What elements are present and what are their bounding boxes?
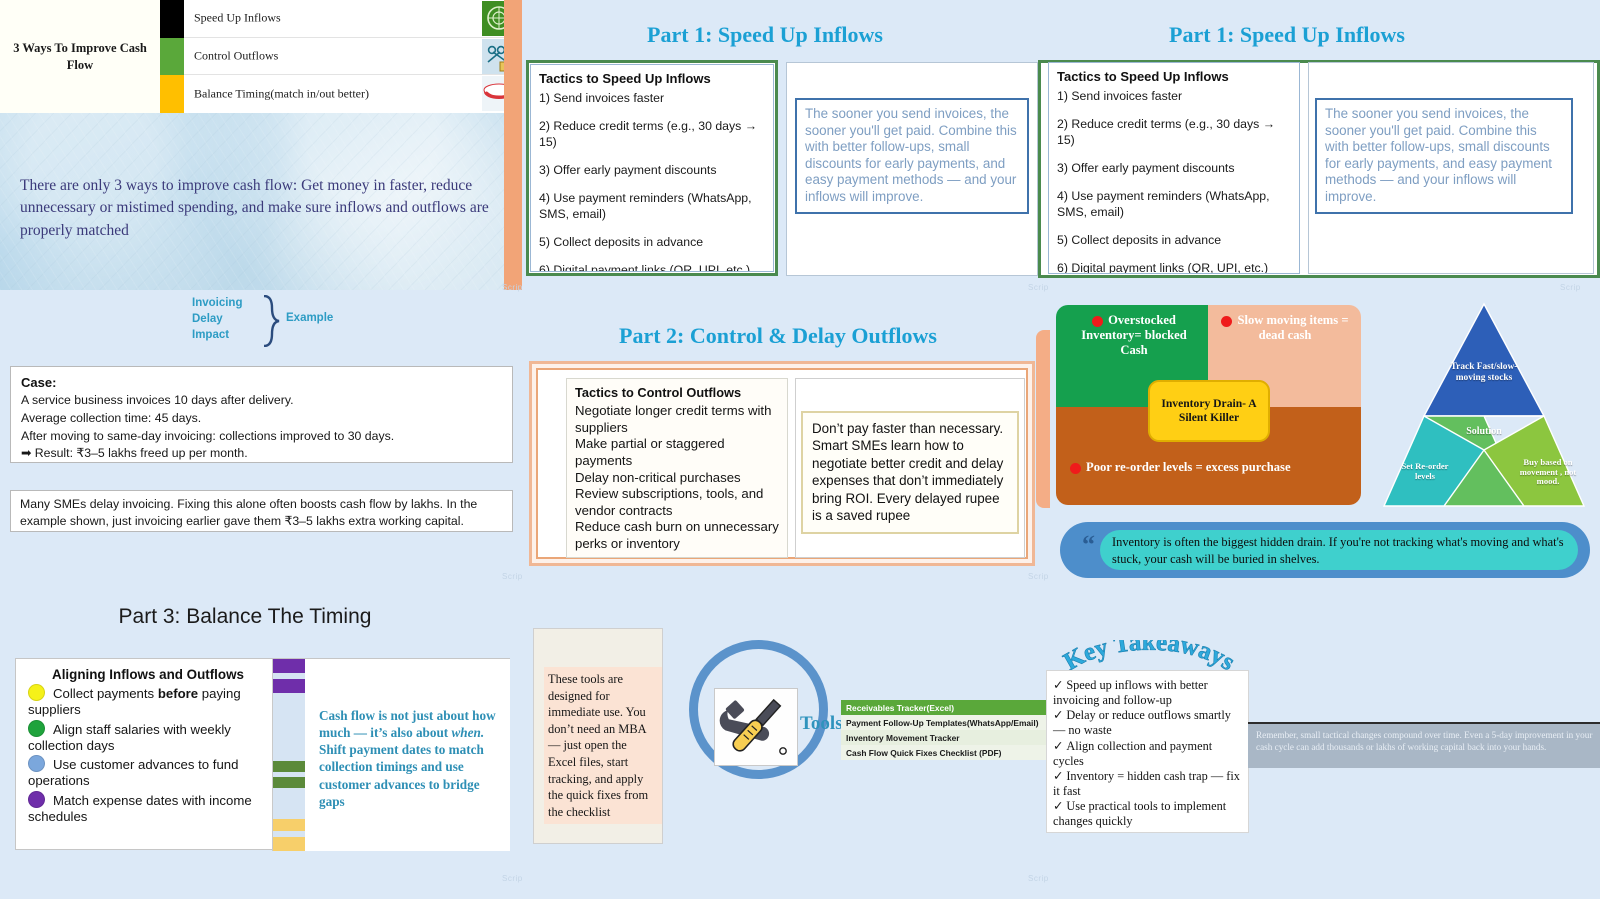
quote-mark-icon: “ — [1082, 530, 1095, 560]
check-icon: ✓ — [1053, 739, 1063, 753]
wrench-screwdriver-icon — [714, 688, 798, 766]
check-icon: ✓ — [1053, 799, 1063, 813]
bullet-dot-icon — [1221, 316, 1232, 327]
tactic-item: 4) Use payment reminders (WhatsApp, SMS,… — [539, 191, 765, 223]
three-ways-table: 3 Ways To Improve Cash Flow Speed Up Inf… — [0, 0, 516, 113]
inventory-text: Slow moving items = dead cash — [1237, 313, 1348, 342]
case-heading: Case: — [21, 375, 502, 390]
takeaway-item: ✓Align collection and payment cycles — [1053, 739, 1242, 769]
part3-box: Aligning Inflows and Outflows Collect pa… — [15, 658, 510, 850]
part1-title-right: Part 1: Speed Up Inflows — [1046, 22, 1528, 48]
align-item: Match expense dates with income schedule… — [28, 791, 268, 825]
takeaway-item: ✓Speed up inflows with better invoicing … — [1053, 678, 1242, 708]
part1-title-left: Part 1: Speed Up Inflows — [524, 22, 1006, 48]
pyramid-top-label: Track Fast/slow-moving stocks — [1444, 362, 1524, 383]
tactic-item: Reduce cash burn on unnecessary perks or… — [575, 519, 779, 552]
watermark: Scrip — [1028, 283, 1049, 292]
part2-quote: Don’t pay faster than necessary. Smart S… — [801, 411, 1019, 534]
tactic-item: 3) Offer early payment discounts — [539, 163, 765, 179]
takeaway-text: Speed up inflows with better invoicing a… — [1053, 678, 1208, 707]
pyramid-right-label: Buy based on movement , not mood. — [1516, 458, 1580, 487]
part3-title: Part 3: Balance The Timing — [15, 605, 475, 629]
bullet-blue-icon — [28, 755, 45, 772]
row-color-chip — [160, 0, 184, 38]
part1-tactics-box-left: Tactics to Speed Up Inflows 1) Send invo… — [530, 64, 774, 272]
tactic-item: 6) Digital payment links (QR, UPI, etc.) — [1057, 261, 1291, 274]
table-row: Speed Up Inflows — [160, 0, 516, 38]
watermark: Scrip — [502, 874, 523, 883]
inventory-matrix: Overstocked Inventory= blocked Cash Slow… — [1056, 305, 1361, 505]
tactic-item: 5) Collect deposits in advance — [539, 235, 765, 251]
tool-item-receivables-tracker[interactable]: Receivables Tracker(Excel) — [841, 700, 1051, 715]
align-item: Align staff salaries with weekly collect… — [28, 720, 268, 754]
check-icon: ✓ — [1053, 708, 1063, 722]
tactic-item: Delay non-critical purchases — [575, 470, 779, 487]
pyramid-middle-label: Solution — [1444, 426, 1524, 437]
takeaway-text: Delay or reduce outflows smartly — no wa… — [1053, 708, 1231, 737]
strip-segment-purple — [273, 679, 306, 693]
inventory-quote-text: Inventory is often the biggest hidden dr… — [1112, 534, 1572, 568]
tactic-item: Negotiate longer credit terms with suppl… — [575, 403, 779, 436]
part3-color-strip — [272, 659, 307, 851]
tactic-item: Review subscriptions, tools, and vendor … — [575, 486, 779, 519]
tools-note-text: These tools are designed for immediate u… — [544, 667, 662, 824]
align-item: Use customer advances to fund operations — [28, 755, 268, 789]
tactics-heading: Tactics to Speed Up Inflows — [1057, 69, 1291, 84]
part1-tactics-frame-left: Tactics to Speed Up Inflows 1) Send invo… — [526, 60, 778, 276]
part1-quote-wrap-left: The sooner you send invoices, the sooner… — [786, 62, 1038, 276]
row-label: Balance Timing(match in/out better) — [194, 86, 369, 101]
part1-quote-right: The sooner you send invoices, the sooner… — [1315, 98, 1573, 214]
case-line: ➡ Result: ₹3–5 lakhs freed up per month. — [21, 445, 502, 463]
tactic-item: 1) Send invoices faster — [539, 91, 765, 107]
part2-frame: Tactics to Control Outflows Negotiate lo… — [529, 361, 1035, 566]
takeaway-item: ✓Inventory = hidden cash trap — fix it f… — [1053, 769, 1242, 799]
part3-left-col: Aligning Inflows and Outflows Collect pa… — [28, 667, 268, 825]
inventory-text: Poor re-order levels = excess purchase — [1086, 460, 1291, 474]
bracket-item: Invoicing — [192, 297, 242, 309]
table-row: Balance Timing(match in/out better) — [160, 75, 516, 113]
tactic-item: 1) Send invoices faster — [1057, 89, 1291, 105]
table-row: Control Outflows — [160, 38, 516, 76]
row-label: Control Outflows — [194, 48, 278, 63]
takeaway-text: Align collection and payment cycles — [1053, 739, 1212, 768]
intro-slide: 3 Ways To Improve Cash Flow Speed Up Inf… — [0, 0, 516, 290]
strip-segment-green — [273, 777, 306, 788]
part2-inner-frame: Tactics to Control Outflows Negotiate lo… — [536, 368, 1028, 559]
strip-segment-green — [273, 761, 306, 772]
hero-caption: There are only 3 ways to improve cash fl… — [20, 175, 498, 242]
quote-part-2: Shift payment dates to match collection … — [319, 742, 484, 808]
tools-note-box: These tools are designed for immediate u… — [533, 628, 663, 844]
takeaway-text: Inventory = hidden cash trap — fix it fa… — [1053, 769, 1240, 798]
bullet-purple-icon — [28, 791, 45, 808]
strip-segment-purple — [273, 659, 306, 673]
item-text: Use customer advances to fund operations — [28, 757, 238, 788]
check-icon: ✓ — [1053, 678, 1063, 692]
pyramid-left-label: Set Re-order levels — [1394, 462, 1456, 481]
inventory-label-reorder: Poor re-order levels = excess purchase — [1070, 460, 1355, 475]
item-text: Match expense dates with income schedule… — [28, 793, 252, 824]
remember-banner: Remember, small tactical changes compoun… — [1248, 724, 1600, 768]
part1-quote-wrap-right: The sooner you send invoices, the sooner… — [1308, 62, 1594, 274]
orange-accent-strip-2 — [1036, 330, 1050, 508]
tactic-item: 5) Collect deposits in advance — [1057, 233, 1291, 249]
tactic-item: 4) Use payment reminders (WhatsApp, SMS,… — [1057, 189, 1291, 221]
part2-tactics-box: Tactics to Control Outflows Negotiate lo… — [566, 378, 788, 558]
table-title: 3 Ways To Improve Cash Flow — [0, 0, 160, 113]
takeaway-item: ✓Use practical tools to implement change… — [1053, 799, 1242, 829]
inventory-label-slowmoving: Slow moving items = dead cash — [1216, 313, 1354, 343]
tactic-item: 2) Reduce credit terms (e.g., 30 days → … — [1057, 117, 1291, 149]
row-color-chip — [160, 75, 184, 113]
takeaway-item: ✓Delay or reduce outflows smartly — no w… — [1053, 708, 1242, 738]
tool-item-payment-templates[interactable]: Payment Follow-Up Templates(WhatsApp/Ema… — [841, 715, 1051, 730]
bullet-dot-icon — [1092, 316, 1103, 327]
case-line: A service business invoices 10 days afte… — [21, 392, 502, 410]
row-label: Speed Up Inflows — [194, 11, 281, 26]
inventory-solution-pyramid: Track Fast/slow-moving stocks Solution S… — [1378, 300, 1590, 510]
bracket-item: Delay — [192, 313, 223, 325]
takeaway-text: Use practical tools to implement changes… — [1053, 799, 1226, 828]
case-note: Many SMEs delay invoicing. Fixing this a… — [20, 496, 503, 529]
watermark: Scrip — [1028, 874, 1049, 883]
strip-segment-yellow — [273, 819, 306, 831]
align-heading: Aligning Inflows and Outflows — [28, 667, 268, 682]
inventory-quote-pill: “ Inventory is often the biggest hidden … — [1060, 522, 1590, 578]
part3-quote: Cash flow is not just about how much — i… — [319, 707, 499, 810]
curly-brace-icon — [260, 295, 282, 347]
align-item: Collect payments before paying suppliers — [28, 684, 268, 718]
tools-label: Tools — [800, 713, 843, 735]
part1-quote-left: The sooner you send invoices, the sooner… — [795, 98, 1029, 214]
bracket-label: Example — [286, 312, 333, 324]
inventory-center-label: Inventory Drain- A Silent Killer — [1148, 380, 1270, 442]
case-line: Average collection time: 45 days. — [21, 410, 502, 428]
tactics-heading: Tactics to Control Outflows — [575, 385, 779, 400]
hero-image: There are only 3 ways to improve cash fl… — [0, 113, 516, 290]
case-box: Case: A service business invoices 10 day… — [10, 366, 513, 463]
bullet-yellow-icon — [28, 684, 45, 701]
row-color-chip — [160, 38, 184, 76]
part3-right-col: Cash flow is not just about how much — i… — [305, 659, 510, 851]
bullet-dot-icon — [1070, 463, 1081, 474]
inventory-label-overstocked: Overstocked Inventory= blocked Cash — [1068, 313, 1200, 358]
tactic-item: 2) Reduce credit terms (e.g., 30 days → … — [539, 119, 765, 151]
tool-item-quick-fixes-checklist[interactable]: Cash Flow Quick Fixes Checklist (PDF) — [841, 745, 1051, 760]
watermark: Scrip — [1028, 572, 1049, 581]
check-icon: ✓ — [1053, 769, 1063, 783]
tactic-item: Make partial or staggered payments — [575, 436, 779, 469]
item-text: Collect payments — [53, 686, 158, 701]
tactics-heading: Tactics to Speed Up Inflows — [539, 71, 765, 86]
part2-quote-wrap: Don’t pay faster than necessary. Smart S… — [795, 378, 1025, 558]
case-note-box: Many SMEs delay invoicing. Fixing this a… — [10, 490, 513, 532]
part1-tactics-box-right: Tactics to Speed Up Inflows 1) Send invo… — [1048, 62, 1300, 274]
watermark: Scrip — [1560, 283, 1581, 292]
case-line: After moving to same-day invoicing: coll… — [21, 428, 502, 446]
tactic-item: 6) Digital payment links (QR, UPI, etc.) — [539, 263, 765, 272]
bracket-item: Impact — [192, 329, 229, 341]
watermark: Scrip — [502, 572, 523, 581]
tactic-item: 3) Offer early payment discounts — [1057, 161, 1291, 177]
tool-item-inventory-tracker[interactable]: Inventory Movement Tracker — [841, 730, 1051, 745]
strip-segment-yellow — [273, 837, 306, 851]
remember-text: Remember, small tactical changes compoun… — [1256, 729, 1594, 753]
part2-title: Part 2: Control & Delay Outflows — [528, 323, 1028, 349]
item-text: Align staff salaries with weekly collect… — [28, 722, 231, 753]
quote-italic: when. — [452, 725, 485, 740]
key-takeaways-box: ✓Speed up inflows with better invoicing … — [1046, 670, 1249, 833]
orange-accent-strip — [504, 0, 522, 290]
item-bold: before — [158, 686, 198, 701]
bullet-green-icon — [28, 720, 45, 737]
example-bracket-group: Invoicing Delay Impact Example — [192, 295, 352, 350]
